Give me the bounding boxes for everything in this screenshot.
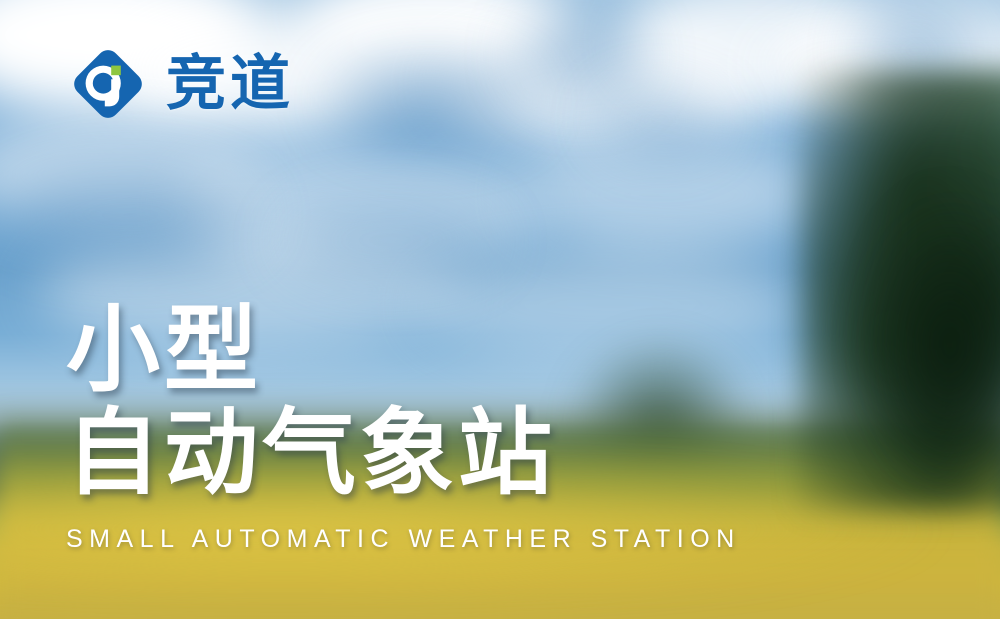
hero-copy: 小型 自动气象站 SMALL AUTOMATIC WEATHER STATION bbox=[66, 295, 686, 554]
product-banner: 环境监测站 竞道 bbox=[0, 0, 1000, 619]
jingdao-diamond-logo-icon bbox=[68, 44, 148, 124]
page-title-line1: 小型 bbox=[66, 295, 686, 404]
brand-name: 竞道 bbox=[166, 54, 294, 114]
page-title-line2: 自动气象站 bbox=[66, 398, 686, 507]
page-subtitle: SMALL AUTOMATIC WEATHER STATION bbox=[66, 525, 686, 554]
brand-logo[interactable]: 竞道 bbox=[68, 44, 294, 124]
